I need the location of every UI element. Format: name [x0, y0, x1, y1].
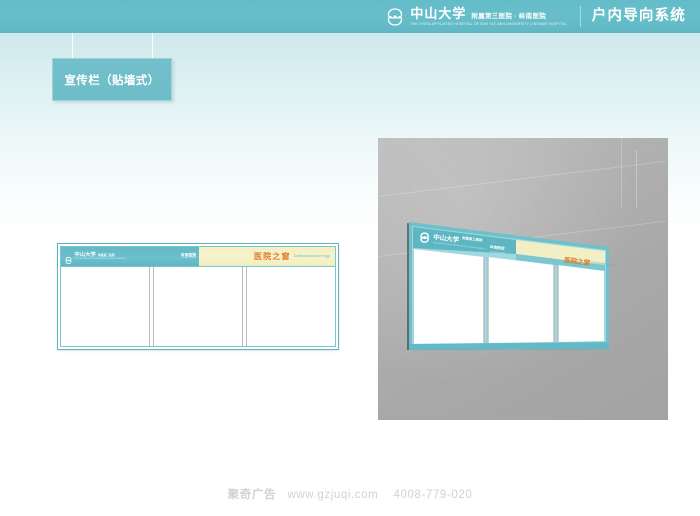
board-header: 中山大学 附属第三医院 THE THIRD AFFILIATED HOSPITA… [61, 247, 335, 266]
board-hospital-name-cn: 附属第三医院 [98, 255, 115, 258]
university-wordmark: 中山大学 附属第三医院 · 岭南医院 THE THIRD AFFILIATED … [410, 7, 566, 26]
hospital-name-cn: 附属第三医院 · 岭南医院 [471, 14, 546, 21]
footer-company: 聚奇广告 [228, 489, 276, 501]
photo-board-svg: 中山大学 附属第三医院 THE THIRD AFFILIATED HOSPITA… [378, 138, 668, 420]
board-title-en: Cardiovascular logy [294, 255, 330, 259]
footer-website: www.gzjuqi.com [287, 489, 378, 501]
footer-phone: 4008-779-020 [394, 489, 473, 501]
page-root: 中山大学 附属第三医院 · 岭南医院 THE THIRD AFFILIATED … [0, 0, 700, 516]
hospital-name-en: THE THIRD AFFILIATED HOSPITAL OF SUN YAT… [410, 23, 566, 27]
installation-photo: 中山大学 附属第三医院 THE THIRD AFFILIATED HOSPITA… [378, 138, 668, 420]
header-band: 中山大学 附属第三医院 · 岭南医院 THE THIRD AFFILIATED … [0, 0, 700, 33]
connector-line-right [152, 33, 153, 59]
university-emblem-icon [384, 6, 406, 28]
board-hospital-name-en: THE THIRD AFFILIATED HOSPITAL OF SUN YAT… [75, 259, 127, 261]
section-label-text: 宣传栏（贴墙式） [64, 72, 159, 88]
board-panels [61, 266, 335, 346]
board-panel [247, 267, 335, 346]
connector-line-left [72, 33, 73, 59]
board-frame: 中山大学 附属第三医院 THE THIRD AFFILIATED HOSPITA… [60, 246, 336, 347]
board-branch-name-en: LINGNAN HOSPITAL [181, 258, 196, 259]
board-university-name-cn: 中山大学 [75, 253, 97, 258]
header-divider [580, 6, 581, 27]
section-label-chip[interactable]: 宣传栏（贴墙式） [52, 58, 172, 101]
board-panel [154, 267, 242, 346]
board-panel [61, 267, 149, 346]
board-brand-lockup: 中山大学 附属第三医院 THE THIRD AFFILIATED HOSPITA… [61, 252, 126, 261]
page-title: 户内导向系统 [592, 9, 686, 24]
footer-credit: 聚奇广告 www.gzjuqi.com 4008-779-020 [0, 486, 700, 502]
university-name-cn: 中山大学 [410, 7, 466, 20]
board-header-brand-panel: 中山大学 附属第三医院 THE THIRD AFFILIATED HOSPITA… [61, 247, 199, 266]
board-university-emblem-icon [64, 252, 73, 261]
board-branch-badge: 岭南医院 LINGNAN HOSPITAL [181, 254, 196, 260]
board-header-title-panel: 医院之窗 Cardiovascular logy [199, 247, 335, 266]
board-title-cn: 医院之窗 [254, 253, 291, 261]
header-brand: 中山大学 附属第三医院 · 岭南医院 THE THIRD AFFILIATED … [384, 6, 700, 28]
bulletin-board-drawing: 中山大学 附属第三医院 THE THIRD AFFILIATED HOSPITA… [57, 243, 339, 350]
